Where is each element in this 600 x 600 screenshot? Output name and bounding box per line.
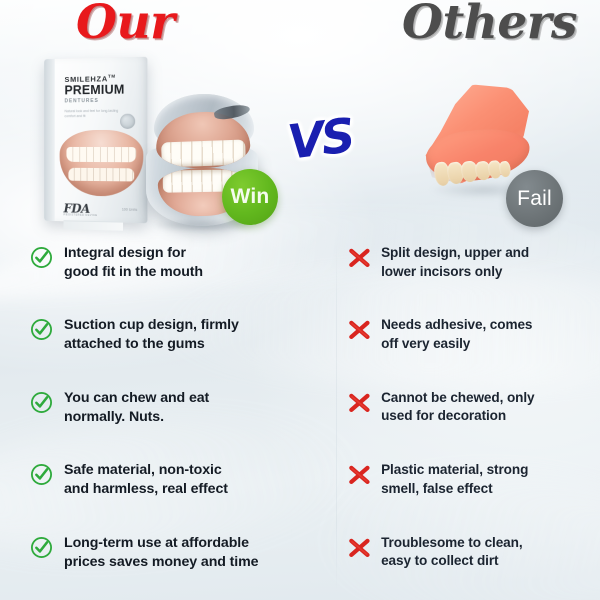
row-text-line1: Needs adhesive, comes [381, 316, 532, 335]
row-text: Safe material, non-toxicand harmless, re… [64, 461, 228, 499]
cross-icon [347, 318, 381, 342]
fda-logo-icon: FDA [64, 201, 90, 215]
row-text: Split design, upper andlower incisors on… [381, 244, 529, 281]
denture-lower-arch [158, 167, 249, 217]
check-circle-icon [30, 391, 64, 414]
box-denture-photo [60, 130, 144, 197]
header-others: Others [402, 0, 577, 49]
cross-icon [347, 536, 381, 560]
box-footer-line [64, 220, 123, 230]
row-text-line1: Safe material, non-toxic [64, 461, 228, 480]
box-brand-text: SMILEHZA [65, 74, 108, 84]
denture-case-base [146, 148, 258, 226]
denture-upper-arch [155, 110, 251, 169]
row-text: Troublesome to clean,easy to collect dir… [381, 534, 522, 571]
product-box: SMILEHZATM PREMIUM DENTURES Natural look… [44, 57, 147, 224]
box-spine [44, 59, 55, 221]
competitor-denture-shadow [430, 182, 536, 198]
row-text-line1: Plastic material, strong [381, 461, 528, 480]
row-text-line1: Troublesome to clean, [381, 534, 522, 553]
row-text-line2: off very easily [381, 335, 532, 354]
row-text: Long-term use at affordableprices saves … [64, 534, 258, 572]
row-text: Suction cup design, firmlyattached to th… [64, 316, 239, 354]
pro-item: You can chew and eatnormally. Nuts. [30, 383, 339, 455]
row-text-line2: used for decoration [381, 407, 534, 426]
row-text-line2: smell, false effect [381, 480, 528, 499]
row-text: Needs adhesive, comesoff very easily [381, 316, 532, 353]
con-item: Plastic material, strongsmell, false eff… [347, 455, 600, 527]
row-icon [30, 316, 64, 341]
competitor-denture-teeth [433, 148, 522, 187]
competitor-denture-image [414, 78, 550, 202]
check-circle-icon [30, 463, 64, 486]
fail-badge: Fail [506, 170, 563, 227]
box-description: Natural look and feel for long-lasting c… [65, 109, 131, 120]
denture-shadow [152, 218, 256, 232]
box-seal-icon [120, 114, 135, 129]
row-icon [347, 244, 381, 270]
row-text-line1: Integral design for [64, 244, 203, 263]
box-pack-count: 100 Units [122, 208, 137, 213]
pros-column: Integral design forgood fit in the mouth… [0, 238, 339, 600]
vs-marker: VS [285, 108, 355, 170]
row-text-line2: good fit in the mouth [64, 263, 203, 282]
row-text-line2: normally. Nuts. [64, 408, 209, 427]
row-icon [347, 316, 381, 342]
con-item: Troublesome to clean,easy to collect dir… [347, 528, 600, 600]
row-text: Integral design forgood fit in the mouth [64, 244, 203, 282]
box-subtitle: DENTURES [65, 98, 99, 104]
denture-hinge [213, 102, 251, 121]
con-item: Needs adhesive, comesoff very easily [347, 310, 600, 382]
cross-icon [347, 391, 381, 415]
check-circle-icon [30, 536, 64, 559]
row-text: Cannot be chewed, onlyused for decoratio… [381, 389, 534, 426]
con-item: Split design, upper andlower incisors on… [347, 238, 600, 310]
row-text-line2: lower incisors only [381, 263, 529, 282]
row-text-line1: Long-term use at affordable [64, 534, 258, 553]
row-text-line1: You can chew and eat [64, 389, 209, 408]
row-text-line1: Suction cup design, firmly [64, 316, 239, 335]
competitor-denture-gum [424, 125, 533, 186]
box-brand: SMILEHZATM [65, 74, 116, 84]
row-text-line1: Split design, upper and [381, 244, 529, 263]
row-text-line2: easy to collect dirt [381, 552, 522, 571]
trademark-symbol: TM [108, 74, 116, 79]
row-icon [347, 534, 381, 560]
row-icon [30, 534, 64, 559]
check-circle-icon [30, 318, 64, 341]
comparison-poster: Our Others SMILEHZATM PREMIUM DENTURES N… [0, 0, 600, 600]
pro-item: Suction cup design, firmlyattached to th… [30, 310, 339, 382]
pro-item: Safe material, non-toxicand harmless, re… [30, 455, 339, 527]
pro-item: Integral design forgood fit in the mouth [30, 238, 339, 310]
row-icon [347, 461, 381, 487]
fda-caption: REGISTERED DEVICE [64, 212, 98, 217]
row-text-line2: prices saves money and time [64, 553, 258, 572]
denture-case-lid [154, 94, 254, 150]
con-item: Cannot be chewed, onlyused for decoratio… [347, 383, 600, 455]
check-circle-icon [30, 246, 64, 269]
row-text: Plastic material, strongsmell, false eff… [381, 461, 528, 498]
row-text-line2: and harmless, real effect [64, 480, 228, 499]
row-text-line1: Cannot be chewed, only [381, 389, 534, 408]
competitor-denture-arc [419, 80, 544, 190]
row-icon [30, 461, 64, 486]
cons-column: Split design, upper andlower incisors on… [339, 238, 600, 600]
pro-item: Long-term use at affordableprices saves … [30, 528, 339, 600]
cross-icon [347, 246, 381, 270]
box-title: PREMIUM [65, 83, 125, 98]
row-icon [30, 389, 64, 414]
row-text: You can chew and eatnormally. Nuts. [64, 389, 209, 427]
win-badge: Win [222, 169, 278, 225]
row-icon [347, 389, 381, 415]
cross-icon [347, 463, 381, 487]
row-text-line2: attached to the gums [64, 335, 239, 354]
header-our: Our [76, 0, 174, 49]
row-icon [30, 244, 64, 269]
our-denture-image [140, 92, 264, 226]
comparison-columns: Integral design forgood fit in the mouth… [0, 238, 600, 600]
